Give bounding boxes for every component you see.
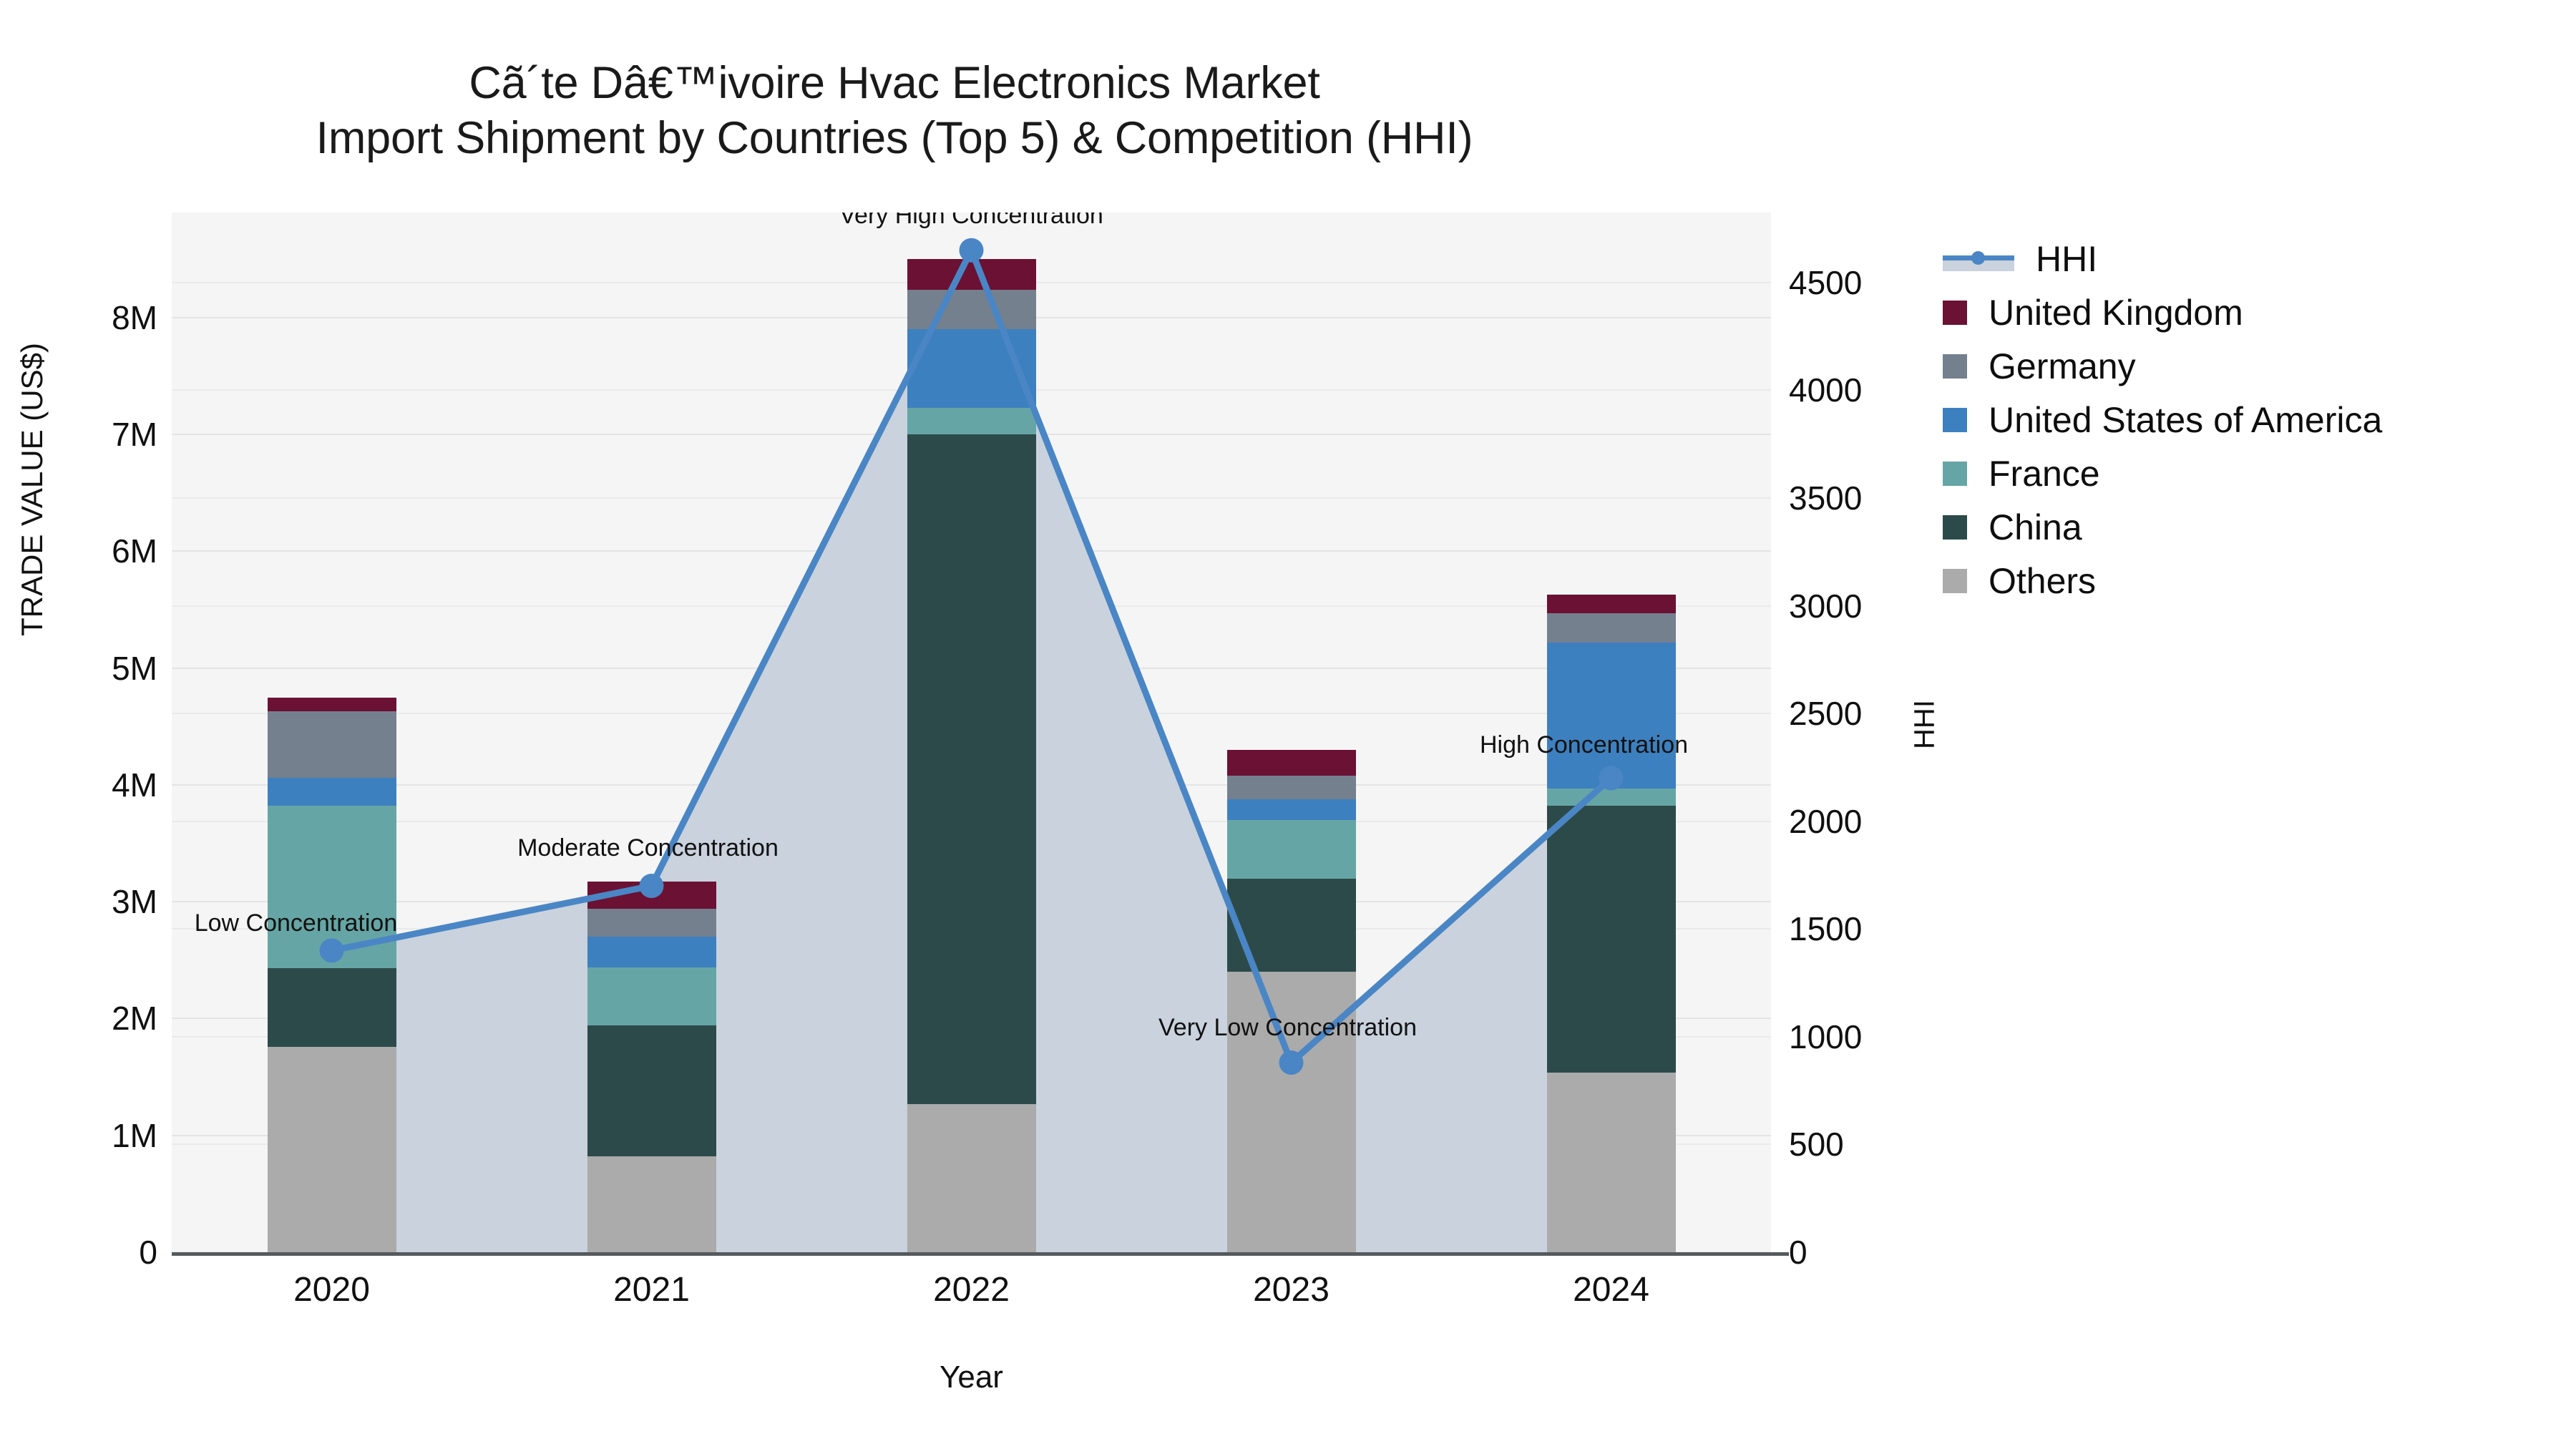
x-tick-2020: 2020 — [293, 1270, 370, 1309]
annotation-2022: Very High Concentration — [839, 213, 1103, 230]
y-tick-right-3000: 3000 — [1789, 587, 1946, 625]
y-tick-right-4000: 4000 — [1789, 371, 1946, 409]
bar-segment-united-kingdom[interactable] — [1227, 750, 1356, 776]
bar-segment-united-states-of-america[interactable] — [587, 937, 716, 967]
legend: HHIUnited KingdomGermanyUnited States of… — [1943, 236, 2558, 612]
chart-title-line-1: Cã´te Dâ€™ivoire Hvac Electronics Market — [0, 56, 1789, 111]
legend-label: France — [1989, 456, 2100, 492]
y-tick-right-0: 0 — [1789, 1233, 1946, 1272]
legend-label: Others — [1989, 563, 2096, 599]
x-tick-2024: 2024 — [1573, 1270, 1649, 1309]
legend-item-china[interactable]: China — [1943, 504, 2558, 550]
bar-segment-united-kingdom[interactable] — [268, 698, 396, 712]
bar-segment-china[interactable] — [1227, 879, 1356, 972]
y-tick-right-3500: 3500 — [1789, 479, 1946, 517]
bar-segment-others[interactable] — [1547, 1073, 1676, 1252]
annotation-2021: Moderate Concentration — [517, 834, 779, 862]
legend-swatch-icon — [1943, 515, 1967, 540]
annotation-2020: Low Concentration — [195, 909, 398, 937]
bar-segment-china[interactable] — [907, 434, 1036, 1103]
y-axis-left-label: TRADE VALUE (US$) — [15, 311, 49, 668]
legend-item-others[interactable]: Others — [1943, 558, 2558, 603]
x-tick-2023: 2023 — [1253, 1270, 1330, 1309]
legend-swatch-icon — [1943, 462, 1967, 486]
bar-segment-united-states-of-america[interactable] — [907, 329, 1036, 407]
bar-stack-2022[interactable] — [907, 213, 1036, 1252]
y-tick-left-4M: 4M — [21, 766, 157, 804]
y-tick-right-2000: 2000 — [1789, 802, 1946, 841]
legend-hhi-line-icon — [1943, 247, 2014, 271]
bar-segment-others[interactable] — [907, 1104, 1036, 1252]
legend-item-united-kingdom[interactable]: United Kingdom — [1943, 290, 2558, 335]
legend-swatch-icon — [1943, 301, 1967, 325]
bar-segment-united-states-of-america[interactable] — [268, 778, 396, 806]
y-tick-right-1000: 1000 — [1789, 1018, 1946, 1056]
bar-segment-france[interactable] — [587, 967, 716, 1026]
plot-area: Low ConcentrationModerate ConcentrationV… — [172, 213, 1771, 1252]
y-tick-left-0: 0 — [21, 1233, 157, 1272]
bar-segment-france[interactable] — [907, 408, 1036, 435]
bar-segment-united-states-of-america[interactable] — [1227, 799, 1356, 820]
bar-segment-germany[interactable] — [268, 711, 396, 778]
legend-item-hhi[interactable]: HHI — [1943, 236, 2558, 281]
y-tick-left-1M: 1M — [21, 1116, 157, 1155]
y-tick-right-500: 500 — [1789, 1125, 1946, 1163]
bar-segment-united-kingdom[interactable] — [1547, 595, 1676, 613]
bar-segment-china[interactable] — [268, 968, 396, 1046]
legend-label: United States of America — [1989, 402, 2382, 438]
chart-figure: Cã´te Dâ€™ivoire Hvac Electronics Market… — [0, 0, 2576, 1449]
bar-segment-others[interactable] — [268, 1047, 396, 1252]
bar-stack-2020[interactable] — [268, 213, 396, 1252]
bar-segment-united-kingdom[interactable] — [587, 882, 716, 909]
bar-segment-united-states-of-america[interactable] — [1547, 643, 1676, 789]
legend-hhi-dot — [1971, 251, 1985, 265]
y-axis-right-label: HHI — [1909, 660, 1941, 789]
legend-item-united-states-of-america[interactable]: United States of America — [1943, 397, 2558, 442]
y-tick-right-1500: 1500 — [1789, 909, 1946, 948]
legend-item-germany[interactable]: Germany — [1943, 343, 2558, 389]
y-tick-left-3M: 3M — [21, 882, 157, 921]
legend-swatch-icon — [1943, 569, 1967, 593]
bar-segment-china[interactable] — [1547, 806, 1676, 1072]
bar-stack-2023[interactable] — [1227, 213, 1356, 1252]
legend-label: China — [1989, 509, 2082, 545]
bar-segment-france[interactable] — [268, 806, 396, 968]
legend-swatch-icon — [1943, 354, 1967, 379]
bar-segment-china[interactable] — [587, 1025, 716, 1156]
bar-segment-others[interactable] — [587, 1156, 716, 1252]
x-tick-2022: 2022 — [933, 1270, 1010, 1309]
chart-title: Cã´te Dâ€™ivoire Hvac Electronics Market… — [0, 56, 1789, 166]
annotation-2023: Very Low Concentration — [1158, 1014, 1417, 1042]
bar-segment-germany[interactable] — [907, 290, 1036, 330]
x-axis-label: Year — [172, 1360, 1771, 1395]
y-tick-left-2M: 2M — [21, 999, 157, 1038]
bar-segment-germany[interactable] — [587, 909, 716, 937]
y-tick-right-4500: 4500 — [1789, 263, 1946, 302]
chart-title-line-2: Import Shipment by Countries (Top 5) & C… — [0, 111, 1789, 166]
bar-segment-france[interactable] — [1227, 820, 1356, 879]
bar-segment-germany[interactable] — [1547, 613, 1676, 643]
legend-item-france[interactable]: France — [1943, 451, 2558, 496]
bar-stack-2021[interactable] — [587, 213, 716, 1252]
legend-label: Germany — [1989, 348, 2136, 384]
annotation-2024: High Concentration — [1480, 731, 1688, 759]
bar-segment-germany[interactable] — [1227, 776, 1356, 799]
bar-segment-united-kingdom[interactable] — [907, 259, 1036, 289]
legend-swatch-icon — [1943, 408, 1967, 432]
legend-label: HHI — [2036, 241, 2097, 277]
bar-segment-france[interactable] — [1547, 789, 1676, 806]
x-axis-spine — [172, 1252, 1789, 1256]
legend-label: United Kingdom — [1989, 295, 2243, 331]
x-tick-2021: 2021 — [613, 1270, 690, 1309]
